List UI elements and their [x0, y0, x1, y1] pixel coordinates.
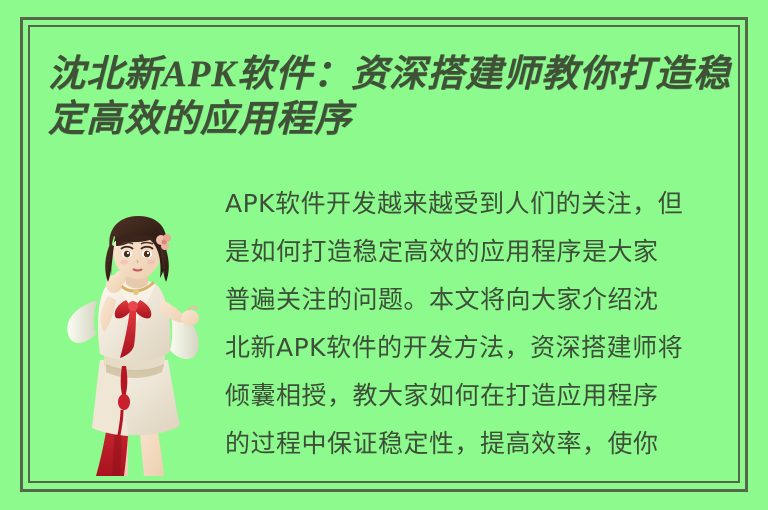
body-line-5: 倾囊相授，教大家如何在打造应用程序: [225, 372, 753, 420]
title-line-2: 定高效的应用程序: [48, 99, 352, 140]
anime-girl-illustration: [62, 214, 217, 476]
illustration-svg: [62, 214, 217, 476]
body-line-6: 的过程中保证稳定性，提高效率，使你: [225, 420, 753, 468]
title-line-1: 沈北新APK软件：资深搭建师教你打造稳: [48, 54, 731, 95]
body-line-2: 是如何打造稳定高效的应用程序是大家: [225, 228, 753, 276]
body-line-1: APK软件开发越来越受到人们的关注，但: [225, 180, 753, 228]
body-paragraph: APK软件开发越来越受到人们的关注，但 是如何打造稳定高效的应用程序是大家 普遍…: [225, 180, 753, 468]
poster-canvas: 沈北新APK软件：资深搭建师教你打造稳 定高效的应用程序: [0, 0, 768, 510]
body-line-4: 北新APK软件的开发方法，资深搭建师将: [225, 324, 753, 372]
page-title: 沈北新APK软件：资深搭建师教你打造稳 定高效的应用程序: [48, 52, 768, 142]
body-line-3: 普遍关注的问题。本文将向大家介绍沈: [225, 276, 753, 324]
